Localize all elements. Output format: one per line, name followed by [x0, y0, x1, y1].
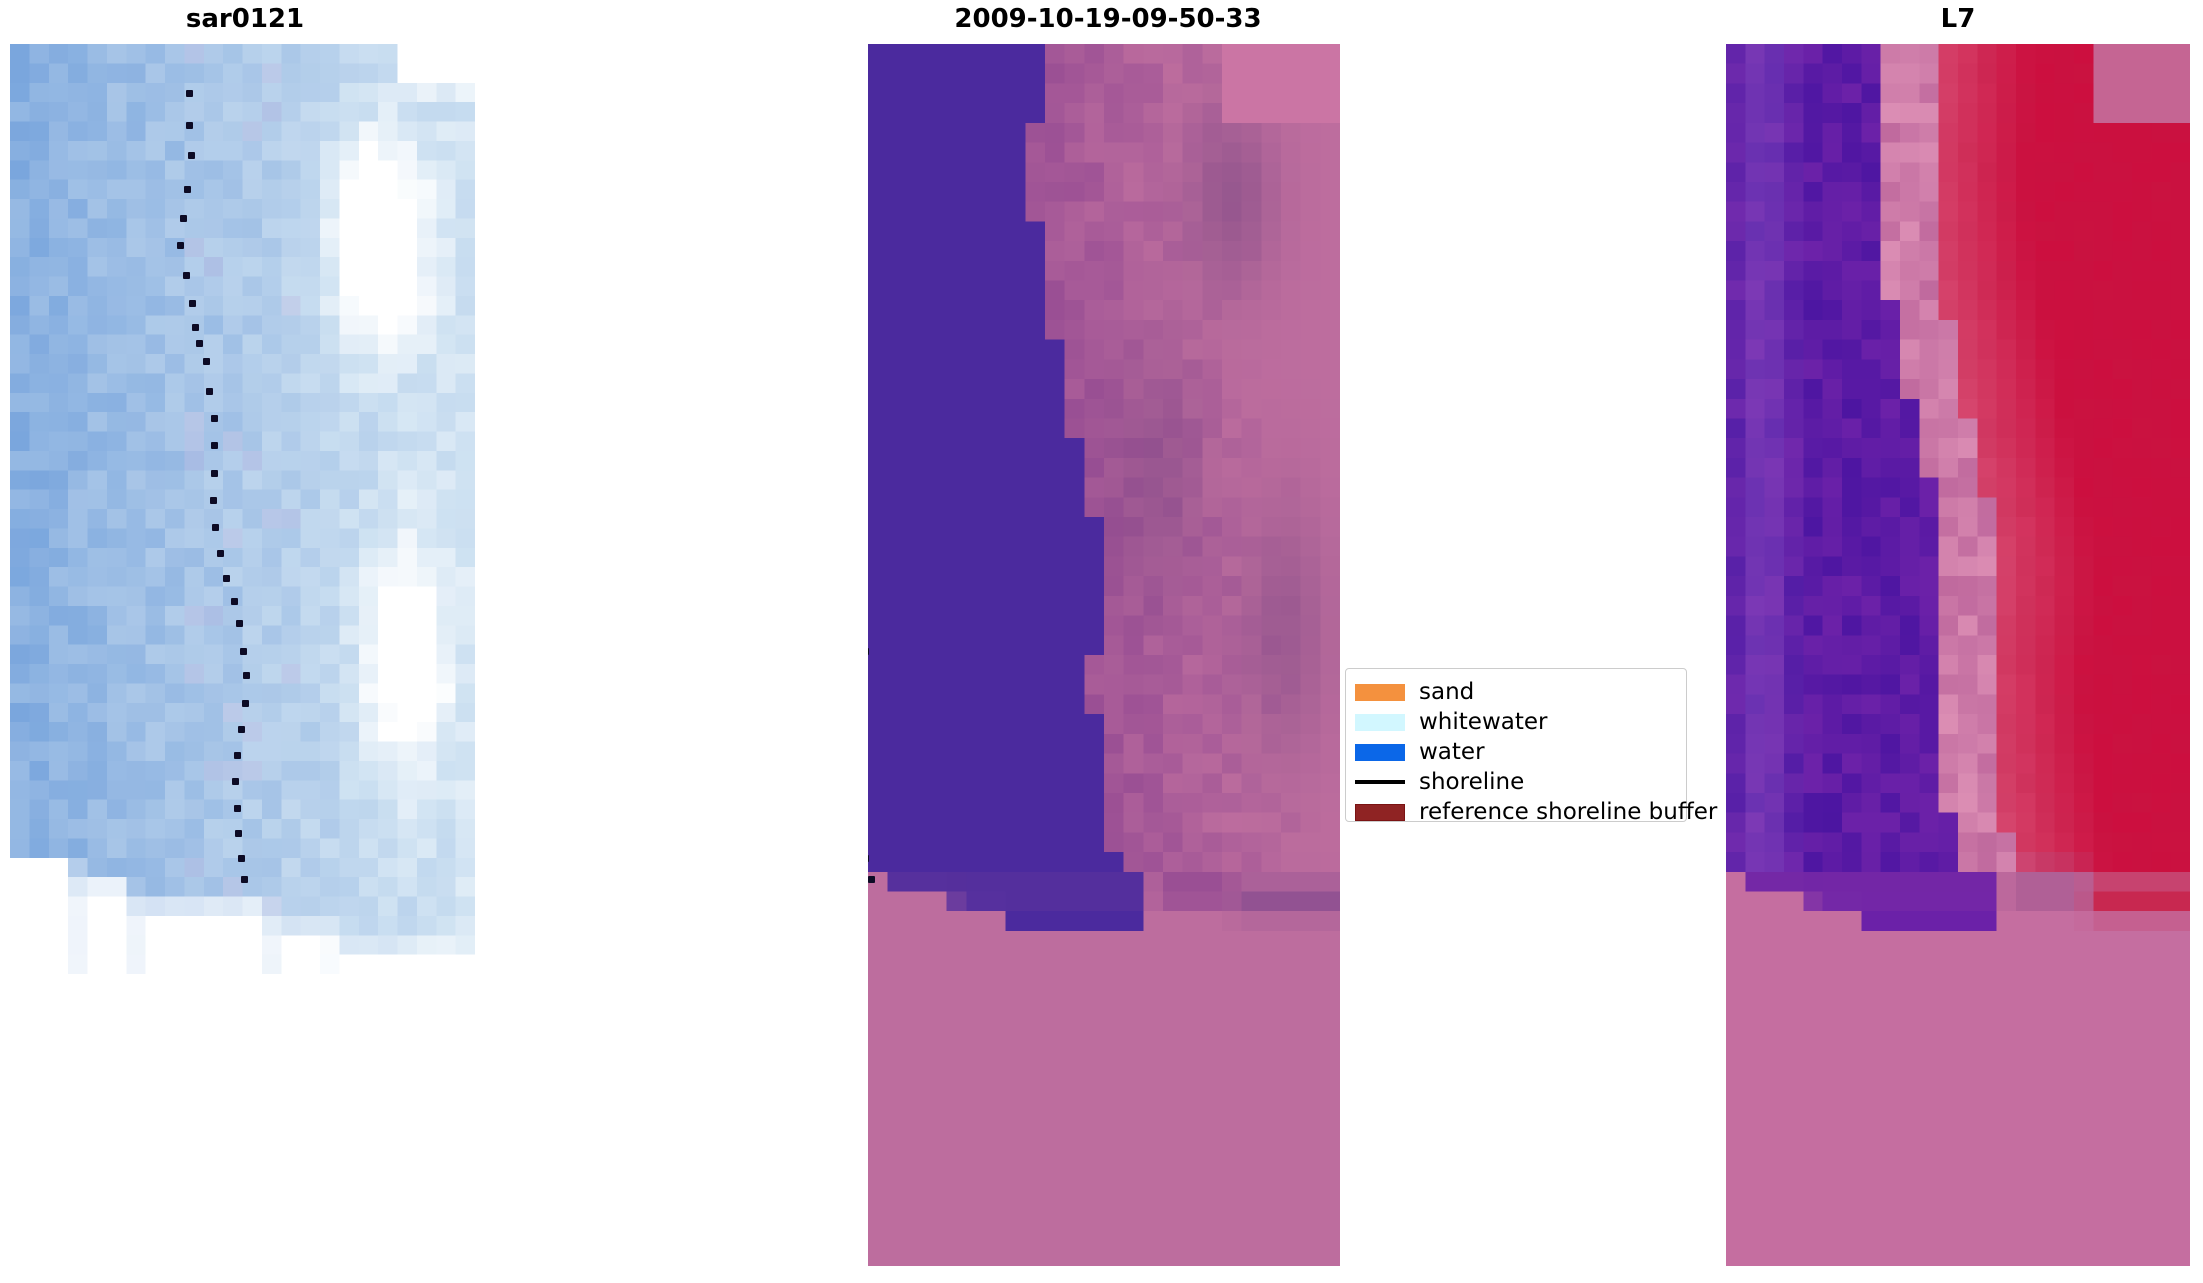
l7-image-panel[interactable]: [1726, 44, 2190, 1266]
figure-canvas: sar0121 2009-10-19-09-50-33 L7 sand whit…: [0, 0, 2203, 1283]
legend-box[interactable]: sand whitewater water shoreline referenc…: [1345, 668, 1687, 822]
whitewater-color-swatch: [1355, 714, 1405, 731]
l7-raster-canvas: [1726, 44, 2190, 1266]
legend-label-water: water: [1419, 741, 1485, 764]
sar-raster: [10, 44, 475, 974]
legend-item-sand[interactable]: sand: [1355, 677, 1676, 707]
legend-item-whitewater[interactable]: whitewater: [1355, 707, 1676, 737]
classification-image-panel[interactable]: [868, 44, 1340, 1266]
reference-shoreline-buffer-color-swatch: [1355, 804, 1405, 821]
legend-label-reference-shoreline-buffer: reference shoreline buffer: [1419, 801, 1717, 824]
sand-color-swatch: [1355, 684, 1405, 701]
classification-raster-canvas: [868, 44, 1340, 1266]
shoreline-line-swatch: [1355, 780, 1405, 784]
legend-label-shoreline: shoreline: [1419, 771, 1524, 794]
classification-raster: [868, 44, 1340, 1266]
l7-raster: [1726, 44, 2190, 1266]
legend-label-sand: sand: [1419, 681, 1474, 704]
legend-label-whitewater: whitewater: [1419, 711, 1547, 734]
legend-item-reference-shoreline-buffer[interactable]: reference shoreline buffer: [1355, 797, 1676, 827]
legend-item-shoreline[interactable]: shoreline: [1355, 767, 1676, 797]
legend-item-water[interactable]: water: [1355, 737, 1676, 767]
sar-image-panel[interactable]: [10, 44, 475, 974]
panel-title-classification: 2009-10-19-09-50-33: [954, 4, 1261, 34]
sar-raster-canvas: [10, 44, 475, 974]
water-color-swatch: [1355, 744, 1405, 761]
panel-title-sar: sar0121: [186, 4, 304, 34]
panel-title-l7: L7: [1941, 4, 1976, 34]
